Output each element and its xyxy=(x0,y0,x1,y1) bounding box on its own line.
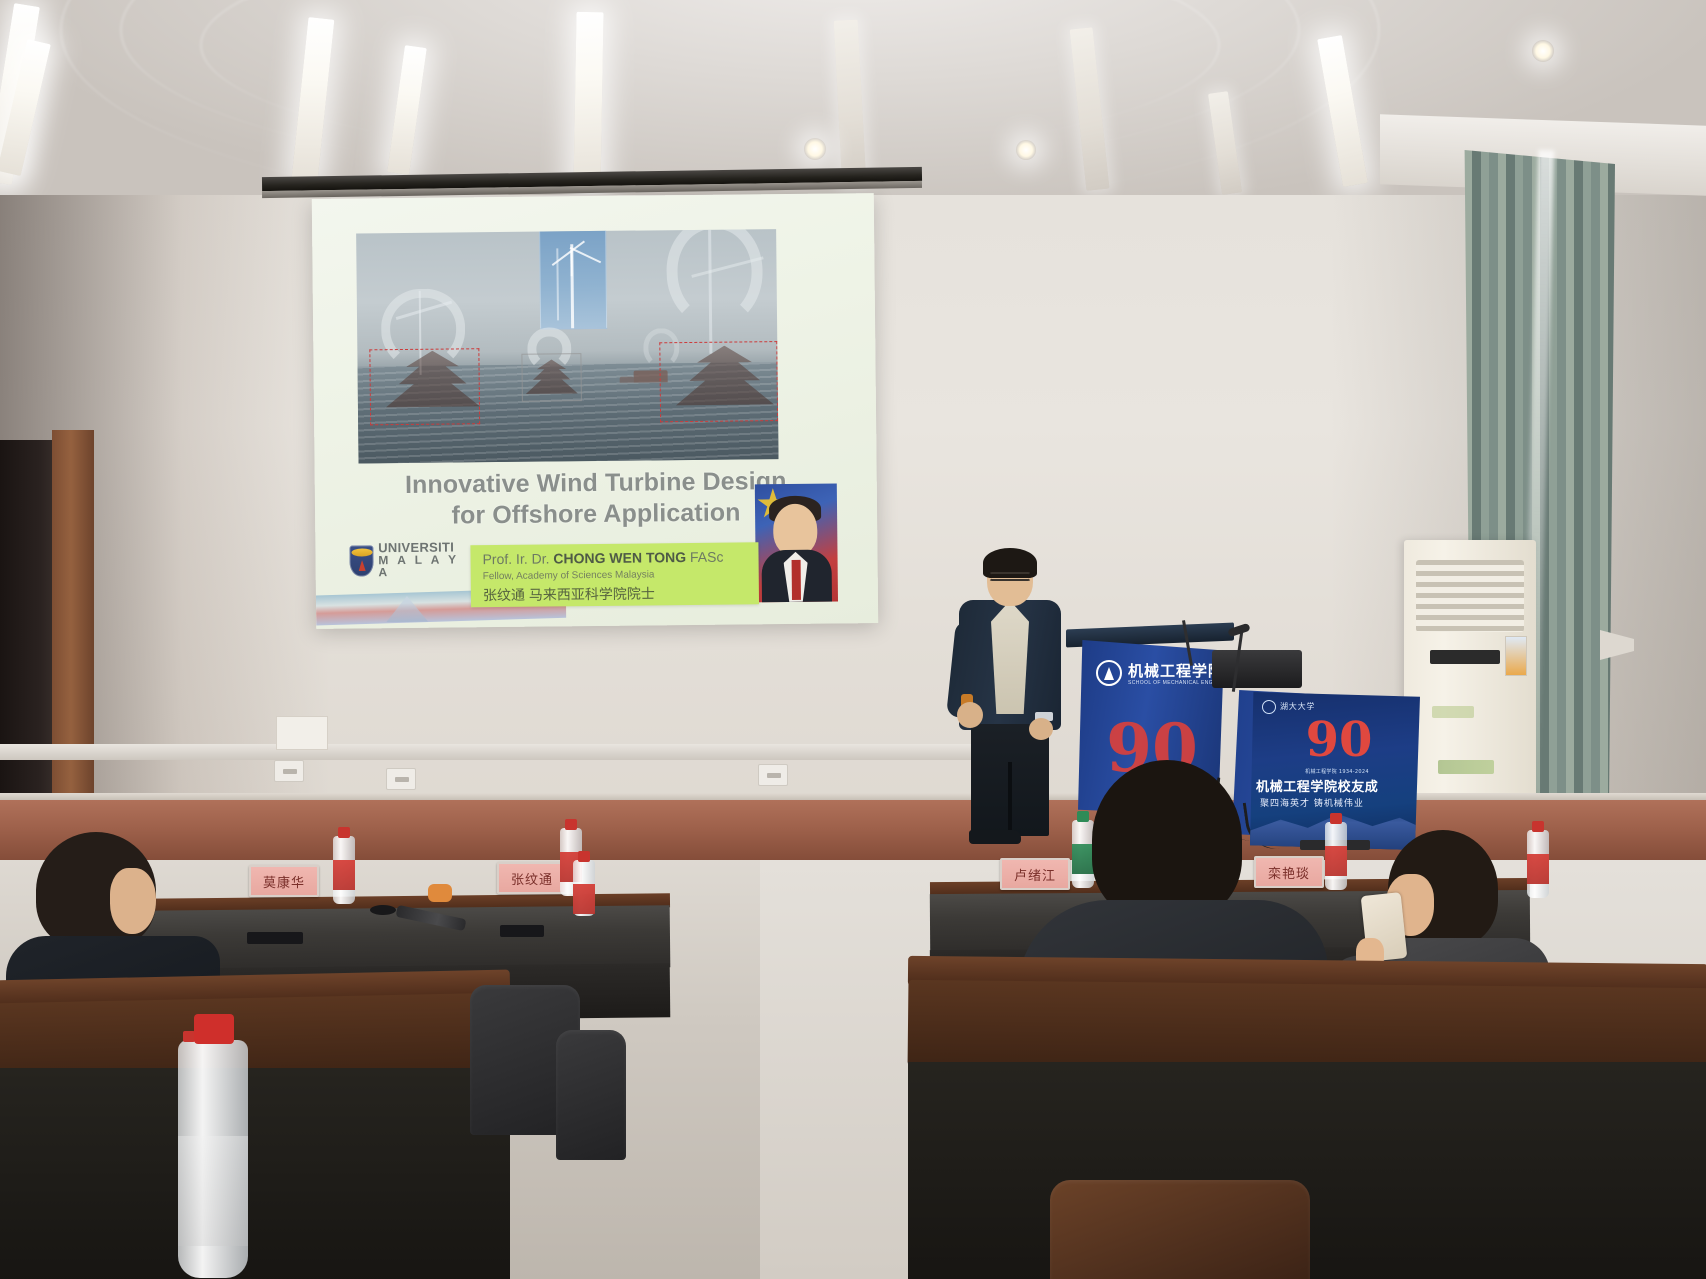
slide-surface: Innovative Wind Turbine Design for Offsh… xyxy=(312,193,878,629)
portrait-tie xyxy=(792,560,801,600)
bottle-cap xyxy=(194,1014,234,1044)
bottle-label xyxy=(178,1136,248,1246)
presenter-left-hand xyxy=(957,702,983,728)
speaker-chinese-name: 张纹通 马来西亚科学院院士 xyxy=(483,583,655,605)
um-logo-line2: M A L A Y A xyxy=(378,553,471,578)
eyeglasses-icon xyxy=(989,572,1031,581)
wall-socket[interactable] xyxy=(274,760,304,782)
table-grommet xyxy=(370,905,396,915)
portrait-face xyxy=(773,504,818,556)
presenter-shirt xyxy=(991,604,1029,714)
smartphone[interactable] xyxy=(500,925,544,937)
speaker-affiliation: Fellow, Academy of Sciences Malaysia xyxy=(483,569,655,582)
projection-screen: Innovative Wind Turbine Design for Offsh… xyxy=(312,193,878,629)
ac-badge xyxy=(1432,706,1474,718)
bottle-label xyxy=(333,860,355,890)
um-shield-icon xyxy=(349,545,373,576)
wall-skirting xyxy=(0,744,1000,760)
bottle-label xyxy=(573,884,595,914)
nameplate: 莫康华 xyxy=(249,865,319,897)
inset-offshore-photo xyxy=(539,229,607,329)
ac-control-panel[interactable] xyxy=(1430,650,1500,664)
control-monitor xyxy=(1212,650,1302,688)
university-emblem-icon xyxy=(1262,700,1276,714)
wall-socket[interactable] xyxy=(758,764,788,786)
presenter-right-hand xyxy=(1029,718,1053,740)
bench xyxy=(908,980,1706,1074)
ac-grill xyxy=(1416,560,1524,632)
lecture-hall-photo: Innovative Wind Turbine Design for Offsh… xyxy=(0,0,1706,1279)
ceiling-downlight xyxy=(1016,140,1036,160)
turbine-blade xyxy=(570,250,572,276)
ceiling-downlight xyxy=(1532,40,1554,62)
ac-energy-label xyxy=(1505,636,1527,676)
highlight-box xyxy=(521,353,581,402)
ceiling-light-tube xyxy=(573,12,603,190)
speaker-suffix: FASc xyxy=(686,549,724,565)
audience-head xyxy=(1092,760,1242,920)
chair-back xyxy=(1050,1180,1310,1279)
bench-front-panel xyxy=(0,1068,510,1279)
speaker-credit-band: Prof. Ir. Dr. CHONG WEN TONG FASc Fellow… xyxy=(470,542,759,607)
highlight-box xyxy=(659,341,778,422)
water-bottle[interactable] xyxy=(333,836,355,904)
um-logo-text: UNIVERSITI M A L A Y A xyxy=(378,541,472,578)
ac-brand-logo xyxy=(1438,760,1494,774)
university-malaya-logo: UNIVERSITI M A L A Y A xyxy=(349,539,471,580)
speaker-portrait xyxy=(755,483,838,602)
turbine-blade xyxy=(570,247,602,263)
nameplate: 张纹通 xyxy=(497,862,567,894)
highlight-box xyxy=(369,348,480,425)
water-bottle[interactable] xyxy=(178,1040,248,1278)
slide-hero-image xyxy=(356,229,778,463)
smartphone[interactable] xyxy=(247,932,303,944)
water-bottle[interactable] xyxy=(573,860,595,916)
speaker-name: CHONG WEN TONG xyxy=(553,549,686,566)
banner-university: 湖大大学 xyxy=(1280,701,1315,712)
audience-face xyxy=(110,868,156,934)
boat xyxy=(620,377,634,383)
microphone-foam-cover xyxy=(428,884,452,902)
podium-org-cn: 机械工程学院 xyxy=(1128,660,1220,681)
vertical-axis-turbine xyxy=(666,229,763,328)
wall-socket[interactable] xyxy=(386,768,416,790)
ceiling-downlight xyxy=(804,138,826,160)
wall-panel xyxy=(276,716,328,750)
chair-back xyxy=(556,1030,626,1160)
speaker-prefix: Prof. Ir. Dr. xyxy=(482,550,553,567)
university-emblem-icon xyxy=(1096,660,1122,686)
speaker-name-line: Prof. Ir. Dr. CHONG WEN TONG FASc xyxy=(482,549,723,568)
